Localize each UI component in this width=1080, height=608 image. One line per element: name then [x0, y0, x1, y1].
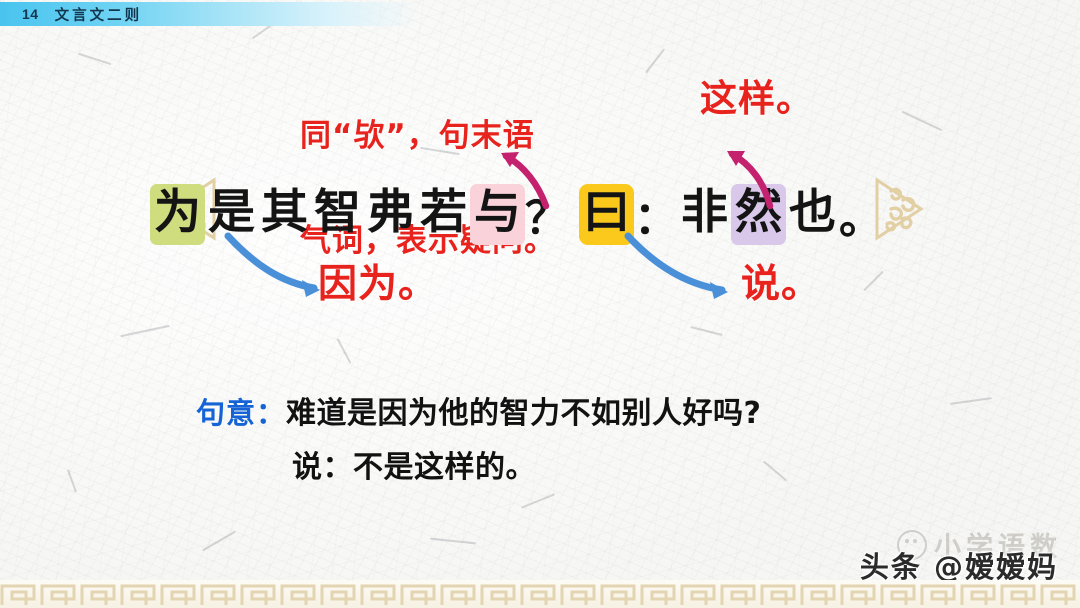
paper-fiber — [79, 53, 112, 65]
arrow-yue-to-note — [614, 230, 754, 310]
punct-period: 。 — [839, 182, 883, 246]
lesson-number: 14 — [22, 6, 39, 22]
lesson-header: 14 文言文二则 — [0, 2, 420, 26]
char-ruo: 若 — [417, 185, 470, 244]
meaning-row-2: 说：不是这样的。 — [196, 442, 761, 486]
paper-fiber — [902, 111, 943, 131]
arrow-wei-to-note — [216, 230, 346, 310]
paper-fiber — [763, 461, 787, 482]
paper-fiber — [430, 538, 476, 545]
paper-fiber — [337, 338, 352, 364]
meaning-row-1: 句意： 难道是因为他的智力不如别人好吗? — [196, 388, 761, 432]
char-wei: 为 — [150, 184, 205, 245]
paper-fiber — [521, 493, 555, 508]
paper-fiber — [202, 531, 236, 552]
char-fu: 弗 — [364, 185, 417, 244]
paper-fiber — [863, 271, 884, 292]
paper-fiber — [67, 469, 77, 492]
arrow-yu-to-note — [488, 128, 608, 210]
meaning-block: 句意： 难道是因为他的智力不如别人好吗? 说：不是这样的。 — [196, 388, 761, 486]
meaning-line2: 说：不是这样的。 — [292, 442, 536, 486]
meaning-line1: 难道是因为他的智力不如别人好吗? — [286, 388, 761, 432]
paper-fiber — [645, 49, 665, 74]
annotation-ran: 这样。 — [700, 78, 814, 119]
meaning-label: 句意： — [196, 390, 286, 432]
paper-fiber — [950, 397, 992, 405]
paper-fiber — [120, 325, 169, 337]
paper-fiber — [690, 326, 723, 336]
bottom-border-pattern — [0, 580, 1080, 608]
slide-canvas: 14 文言文二则 同“欤”，句末语 气词，表示疑问。 这样。 因为。 说。 — [0, 0, 1080, 608]
lesson-title: 文言文二则 — [55, 4, 143, 25]
arrow-ran-to-note — [716, 128, 826, 210]
